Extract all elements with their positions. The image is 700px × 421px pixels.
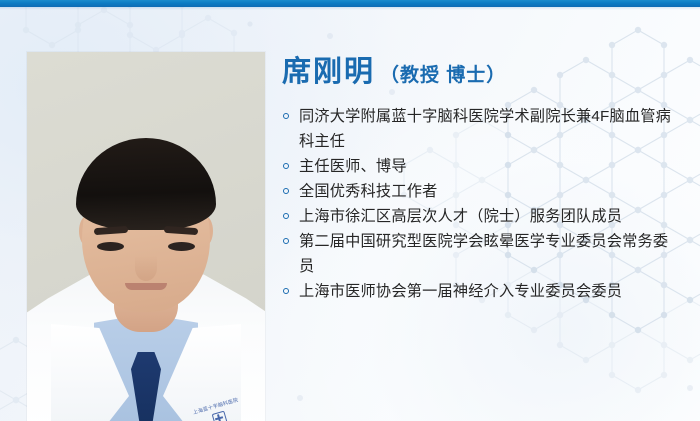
- eye-right: [168, 242, 195, 251]
- list-item-label: 主任医师、博导: [299, 158, 407, 175]
- portrait-photo: 上海蓝十字脑科医院: [27, 52, 265, 421]
- list-item: 上海市医师协会第一届神经介入专业委员会委员: [282, 279, 682, 304]
- bullet-circle-icon: [283, 238, 289, 244]
- cross-in-square-icon: [211, 410, 227, 421]
- bullet-circle-icon: [283, 188, 289, 194]
- eye-left: [97, 242, 124, 251]
- nose: [135, 255, 157, 281]
- list-item-label: 上海市医师协会第一届神经介入专业委员会委员: [299, 283, 622, 300]
- doctor-credential: （教授 博士）: [380, 60, 506, 87]
- profile-slide: 上海蓝十字脑科医院 席刚明 （教授 博士） 同济大学附属蓝十字脑科医院学术副院长…: [0, 0, 700, 421]
- list-item: 主任医师、博导: [282, 154, 682, 179]
- list-item-label: 同济大学附属蓝十字脑科医院学术副院长兼4F脑血管病科主任: [299, 108, 671, 150]
- bullet-circle-icon: [283, 288, 289, 294]
- list-item-label: 全国优秀科技工作者: [299, 183, 438, 200]
- list-item: 同济大学附属蓝十字脑科医院学术副院长兼4F脑血管病科主任: [282, 104, 682, 154]
- bullet-circle-icon: [283, 113, 289, 119]
- page-title: 席刚明 （教授 博士）: [282, 48, 682, 90]
- bullet-circle-icon: [283, 213, 289, 219]
- list-item-label: 上海市徐汇区高层次人才（院士）服务团队成员: [299, 208, 622, 225]
- top-accent-bar-shadow: [0, 7, 700, 10]
- credentials-list: 同济大学附属蓝十字脑科医院学术副院长兼4F脑血管病科主任 主任医师、博导 全国优…: [282, 104, 682, 304]
- doctor-name: 席刚明: [282, 48, 375, 90]
- profile-content: 席刚明 （教授 博士） 同济大学附属蓝十字脑科医院学术副院长兼4F脑血管病科主任…: [282, 48, 682, 304]
- bullet-circle-icon: [283, 163, 289, 169]
- list-item-label: 第二届中国研究型医院学会眩晕医学专业委员会常务委员: [299, 233, 668, 275]
- list-item: 第二届中国研究型医院学会眩晕医学专业委员会常务委员: [282, 229, 682, 279]
- top-accent-bar: [0, 0, 700, 7]
- list-item: 上海市徐汇区高层次人才（院士）服务团队成员: [282, 204, 682, 229]
- mouth: [125, 283, 167, 290]
- list-item: 全国优秀科技工作者: [282, 179, 682, 204]
